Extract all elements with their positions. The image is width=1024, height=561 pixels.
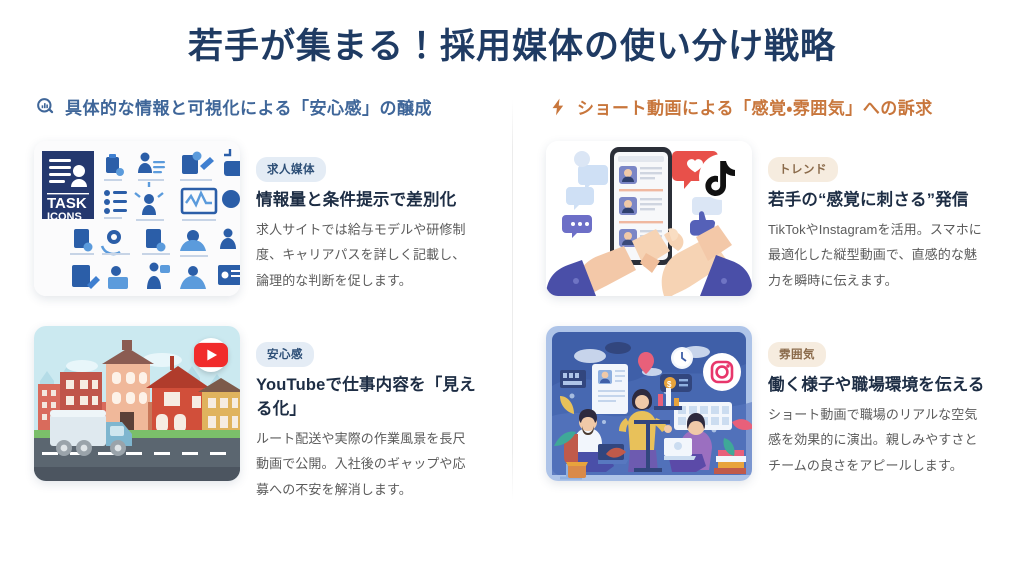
status-badge: 求人媒体 xyxy=(256,157,326,182)
card-title: YouTubeで仕事内容を「見える化」 xyxy=(256,374,478,422)
card-body: 雰囲気 働く様子や職場環境を伝える ショート動画で職場のリアルな空気感を効果的に… xyxy=(768,326,990,478)
magnifier-chart-icon xyxy=(36,97,56,117)
column-divider xyxy=(512,100,513,500)
two-column-layout: 具体的な情報と可視化による「安心感」の醸成 xyxy=(0,94,1024,532)
svg-text:$: $ xyxy=(667,380,672,389)
status-badge: トレンド xyxy=(768,157,838,182)
section-header-right: ショート動画による「感覚・雰囲気」への訴求 xyxy=(546,94,990,119)
page-title: 若手が集まる！採用媒体の使い分け戦略 xyxy=(0,0,1024,68)
card-text: TikTokやInstagramを活用。スマホに最適化した縦型動画で、直感的な魅… xyxy=(768,217,990,293)
card-body: トレンド 若手の“感覚に刺さる”発信 TikTokやInstagramを活用。ス… xyxy=(768,141,990,293)
youtube-play-icon xyxy=(194,338,228,372)
svg-text:TASK: TASK xyxy=(47,195,87,212)
card-title: 働く様子や職場環境を伝える xyxy=(768,374,990,398)
card-title: 若手の“感覚に刺さる”発信 xyxy=(768,189,990,213)
section-header-left: 具体的な情報と可視化による「安心感」の醸成 xyxy=(34,94,478,119)
town-delivery-truck-image xyxy=(34,326,240,481)
card-text: ショート動画で職場のリアルな空気感を効果的に演出。親しみやすさとチームの良さをア… xyxy=(768,402,990,478)
card-youtube: 安心感 YouTubeで仕事内容を「見える化」 ルート配送や実際の作業風景を長尺… xyxy=(34,326,478,502)
card-body: 安心感 YouTubeで仕事内容を「見える化」 ルート配送や実際の作業風景を長尺… xyxy=(256,326,478,502)
section-header-left-label: 具体的な情報と可視化による「安心感」の醸成 xyxy=(65,94,432,119)
hands-smartphone-social-image xyxy=(546,141,752,296)
card-text: ルート配送や実際の作業風景を長尺動画で公開。入社後のギャップや応募への不安を解消… xyxy=(256,426,478,502)
svg-text:ICONS: ICONS xyxy=(47,211,82,223)
column-right: ショート動画による「感覚・雰囲気」への訴求 xyxy=(512,94,1024,532)
lightning-bolt-icon xyxy=(548,97,568,117)
office-team-workspace-image: $ xyxy=(546,326,752,481)
card-trend: トレンド 若手の“感覚に刺さる”発信 TikTokやInstagramを活用。ス… xyxy=(546,141,990,296)
card-body: 求人媒体 情報量と条件提示で差別化 求人サイトでは給与モデルや研修制度、キャリア… xyxy=(256,141,478,293)
status-badge: 雰囲気 xyxy=(768,342,826,367)
card-title: 情報量と条件提示で差別化 xyxy=(256,189,478,213)
card-job-media: TASK ICONS xyxy=(34,141,478,296)
slide-root: 若手が集まる！採用媒体の使い分け戦略 具体的な情報と可視化による「安心感」の醸成 xyxy=(0,0,1024,561)
card-text: 求人サイトでは給与モデルや研修制度、キャリアパスを詳しく記載し、論理的な判断を促… xyxy=(256,217,478,293)
card-atmosphere: $ xyxy=(546,326,990,481)
column-left: 具体的な情報と可視化による「安心感」の醸成 xyxy=(0,94,512,532)
section-header-right-label: ショート動画による「感覚・雰囲気」への訴求 xyxy=(577,94,933,119)
status-badge: 安心感 xyxy=(256,342,314,367)
task-icons-set-image: TASK ICONS xyxy=(34,141,240,296)
